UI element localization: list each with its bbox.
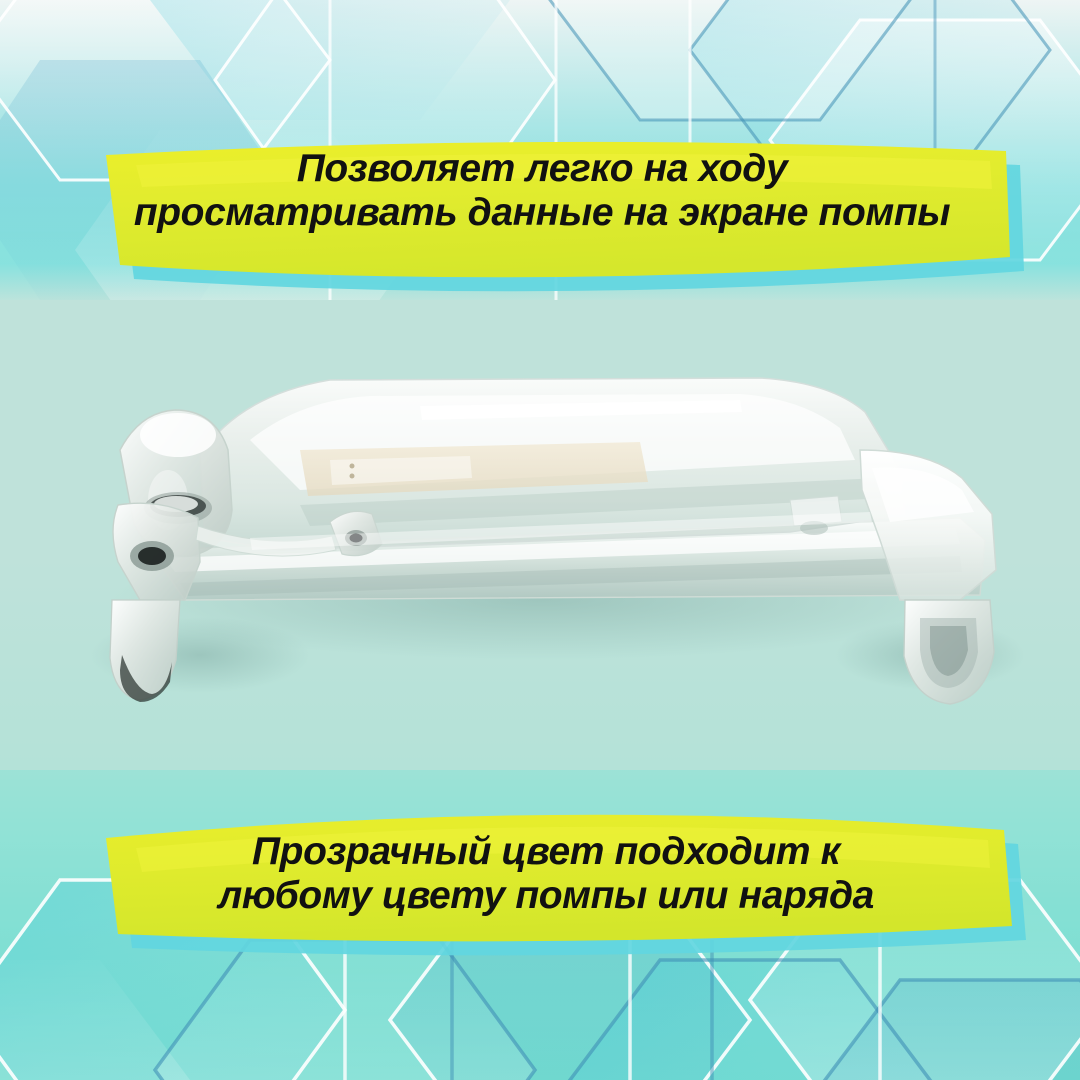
poster-canvas: Позволяет легко на ходу просматривать да… [0,0,1080,1080]
bottom-banner-text: Прозрачный цвет подходит к любому цвету … [66,830,1026,917]
product-photo [0,300,1080,770]
top-banner: Позволяет легко на ходу просматривать да… [62,125,1022,290]
bottom-banner: Прозрачный цвет подходит к любому цвету … [66,800,1026,960]
product-illustration [0,300,1080,770]
top-banner-text: Позволяет легко на ходу просматривать да… [62,147,1022,234]
